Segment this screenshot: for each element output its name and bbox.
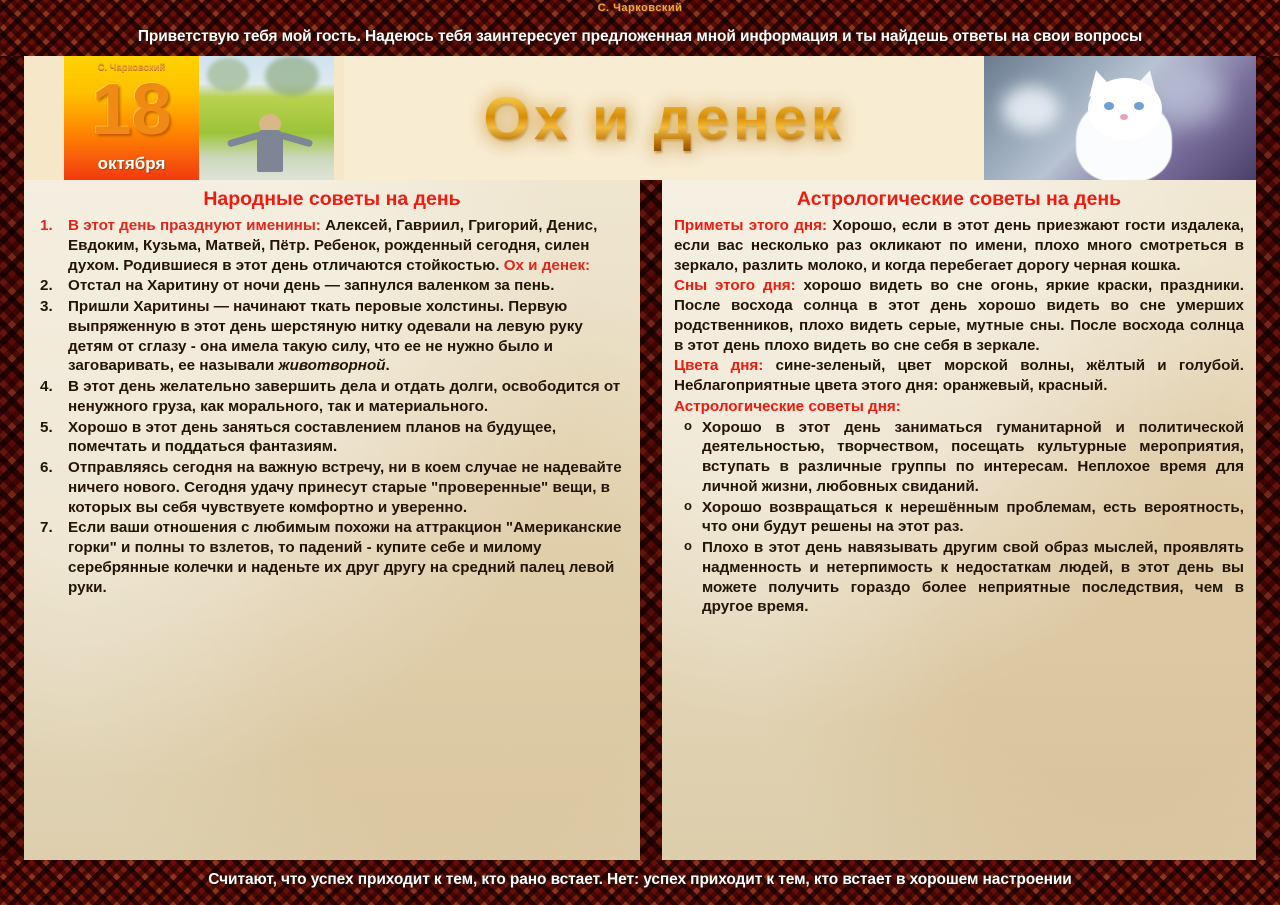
astrology-paragraph-label: Цвета дня: — [674, 357, 763, 374]
folk-advice-text: Отстал на Харитину от ночи день — запнул… — [68, 277, 554, 294]
astrology-paragraph: Цвета дня: сине-зеленый, цвет морской во… — [674, 356, 1244, 396]
folk-advice-item: Пришли Харитины — начинают ткать перовые… — [68, 297, 624, 376]
astrology-advice-item: Плохо в этот день навязывать другим свой… — [702, 538, 1244, 617]
folk-advice-text: Отправляясь сегодня на важную встречу, н… — [68, 459, 622, 516]
astrology-paragraph-label: Приметы этого дня: — [674, 217, 827, 234]
folk-advice-text: В этот день празднуют именины: — [68, 217, 321, 234]
bottom-banner: Считают, что успех приходит к тем, кто р… — [0, 860, 1280, 905]
photo-boy-in-field — [199, 56, 334, 180]
folk-advice-item: Хорошо в этот день заняться составлением… — [68, 418, 624, 458]
top-banner: С. Чарковский Приветствую тебя мой гость… — [0, 0, 1280, 56]
light-glow — [1002, 86, 1060, 132]
tree-shape — [207, 58, 249, 92]
light-glow-2 — [1156, 66, 1226, 126]
astrology-advice-label-text: Астрологические советы дня: — [674, 398, 901, 415]
calendar-page: С. Чарковский Приветствую тебя мой гость… — [0, 0, 1280, 905]
watermark-top: С. Чарковский — [0, 2, 1280, 14]
date-month: октября — [64, 154, 199, 174]
folk-advice-item: Отправляясь сегодня на важную встречу, н… — [68, 458, 624, 517]
astrology-heading: Астрологические советы на день — [662, 188, 1256, 211]
folk-advice-text: Если ваши отношения с любимым похожи на … — [68, 519, 621, 595]
astrology-paragraph: Сны этого дня: хорошо видеть во сне огон… — [674, 276, 1244, 355]
folk-advice-text: животворной — [278, 357, 385, 374]
header-area: С. Чарковский 18 октября Ох и денек — [24, 56, 1256, 180]
astrology-advice-column: Астрологические советы на день Приметы э… — [662, 180, 1256, 860]
folk-advice-item: В этот день желательно завершить дела и … — [68, 377, 624, 417]
footer-quote: Считают, что успех приходит к тем, кто р… — [0, 868, 1280, 892]
folk-advice-item: Отстал на Харитину от ночи день — запнул… — [68, 276, 624, 296]
folk-advice-item: В этот день празднуют именины: Алексей, … — [68, 216, 624, 275]
folk-advice-column: Народные советы на день В этот день праз… — [24, 180, 640, 860]
right-ornament-border — [1256, 56, 1280, 860]
folk-advice-text: Хорошо в этот день заняться составлением… — [68, 419, 556, 456]
astrology-advice-item: Хорошо в этот день заниматься гуманитарн… — [702, 418, 1244, 497]
title-plate: Ох и денек — [344, 56, 984, 180]
boy-arm-right — [279, 131, 314, 147]
folk-advice-heading: Народные советы на день — [24, 188, 640, 211]
tree-shape-2 — [265, 56, 319, 96]
cat-eye-left — [1104, 102, 1114, 110]
astrology-advice-label: Астрологические советы дня: — [674, 397, 1244, 417]
folk-advice-list: В этот день празднуют именины: Алексей, … — [24, 216, 640, 597]
left-ornament-border — [0, 56, 24, 860]
boy-body — [257, 130, 283, 172]
cat-eye-right — [1134, 102, 1144, 110]
date-day: 18 — [64, 74, 199, 146]
folk-advice-text: Ох и денек: — [504, 257, 590, 274]
cat-nose — [1120, 114, 1128, 120]
cat-head — [1088, 78, 1162, 140]
astrology-advice-list: Хорошо в этот день заниматься гуманитарн… — [662, 418, 1256, 618]
greeting-text: Приветствую тебя мой гость. Надеюсь тебя… — [0, 25, 1280, 49]
date-block: С. Чарковский 18 октября — [64, 56, 199, 180]
astrology-paragraph-label: Сны этого дня: — [674, 277, 796, 294]
astrology-paragraph: Приметы этого дня: Хорошо, если в этот д… — [674, 216, 1244, 275]
folk-advice-text: В этот день желательно завершить дела и … — [68, 378, 620, 415]
photo-white-cat — [984, 56, 1256, 180]
astrology-advice-item: Хорошо возвращаться к нерешённым проблем… — [702, 498, 1244, 538]
folk-advice-text: . — [386, 357, 390, 374]
page-title: Ох и денек — [483, 84, 844, 153]
folk-advice-item: Если ваши отношения с любимым похожи на … — [68, 518, 624, 597]
astrology-paragraphs: Приметы этого дня: Хорошо, если в этот д… — [662, 216, 1256, 396]
